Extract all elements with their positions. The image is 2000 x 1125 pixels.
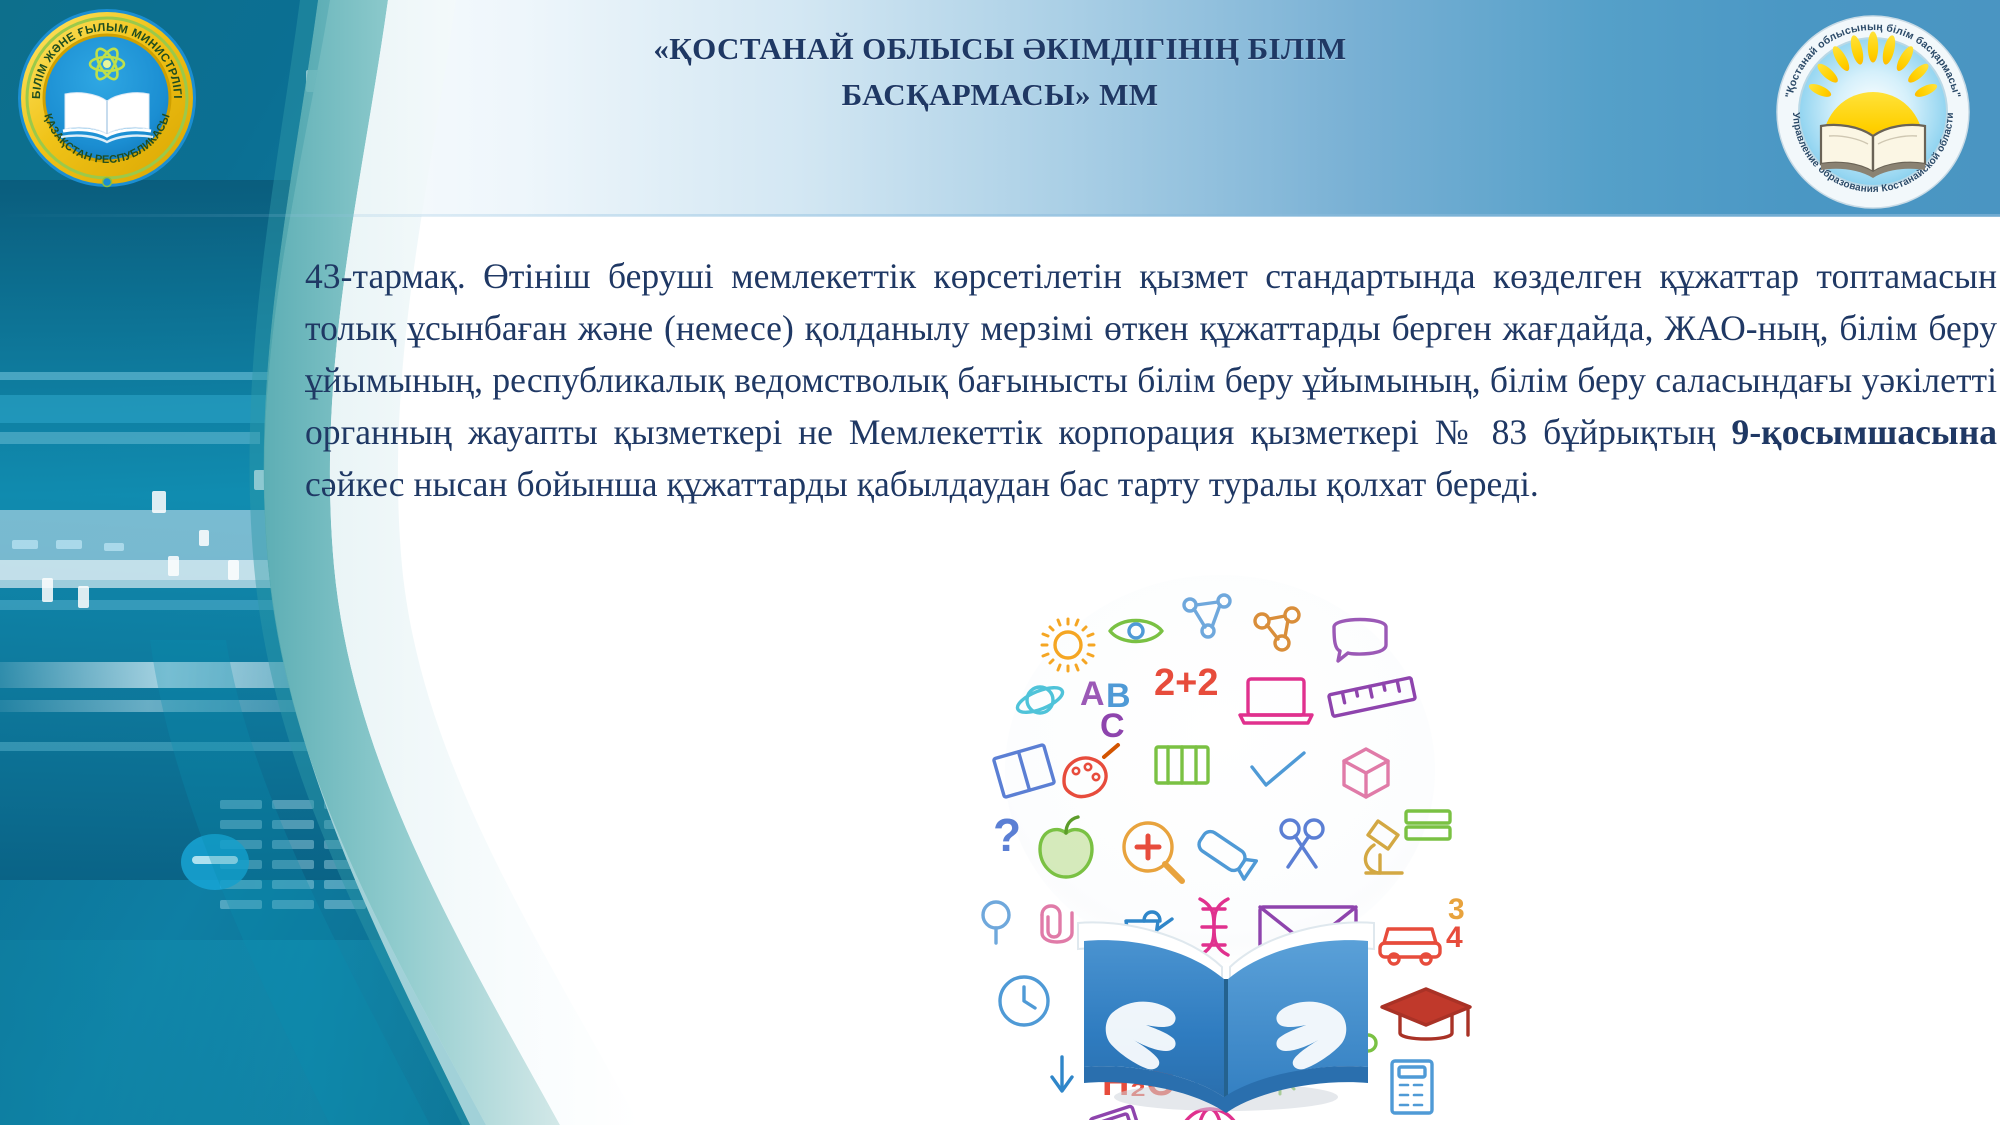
page-title-line-1: «ҚОСТАНАЙ ОБЛЫСЫ ӘКІМДІГІНІҢ БІЛІМ: [500, 26, 1500, 72]
dna-icon: [1200, 899, 1228, 955]
header-divider: [0, 214, 2000, 217]
calculator-icon-2: [1392, 1061, 1432, 1113]
magnifying-glass-icon: [983, 902, 1009, 943]
body-paragraph: 43-тармақ. Өтініш беруші мемлекеттік көр…: [305, 250, 1997, 510]
svg-text:C: C: [1100, 707, 1125, 745]
svg-text:4: 4: [1446, 921, 1463, 954]
paperclip-icon: [1042, 906, 1072, 942]
svg-text:2+2: 2+2: [1154, 662, 1218, 704]
clock-icon: [1000, 977, 1048, 1025]
svg-text:?: ?: [993, 809, 1021, 861]
calculator-icon: [1090, 1106, 1150, 1120]
number-icon: 3 4: [1446, 893, 1465, 954]
presentation-slide: «ҚОСТАНАЙ ОБЛЫСЫ ӘКІМДІГІНІҢ БІЛІМ БАСҚА…: [0, 0, 2000, 1125]
car-icon: [1380, 929, 1440, 964]
math-plus-icon: 2+2: [1154, 662, 1218, 704]
annex-reference-bold: 9-қосымшасына: [1732, 412, 1997, 452]
page-title-line-2: БАСҚАРМАСЫ» ММ: [500, 72, 1500, 118]
page-title: «ҚОСТАНАЙ ОБЛЫСЫ ӘКІМДІГІНІҢ БІЛІМ БАСҚА…: [500, 26, 1500, 118]
question-mark-icon: ?: [993, 809, 1021, 861]
graduation-cap-icon: [1382, 989, 1470, 1039]
education-illustration: A B C 2+2: [960, 575, 1480, 1120]
kostanay-education-department-logo: "Қостанай облысының білім басқармасы" Уп…: [1775, 14, 1971, 210]
ministry-seal-emblem: БІЛІМ ЖӘНЕ ҒЫЛЫМ МИНИСТРЛІГІ ҚАЗАҚСТАН Р…: [16, 7, 198, 189]
paragraph-suffix: сәйкес нысан бойынша құжаттарды қабылдау…: [305, 464, 1539, 504]
arrow-down-icon: [1052, 1057, 1072, 1091]
